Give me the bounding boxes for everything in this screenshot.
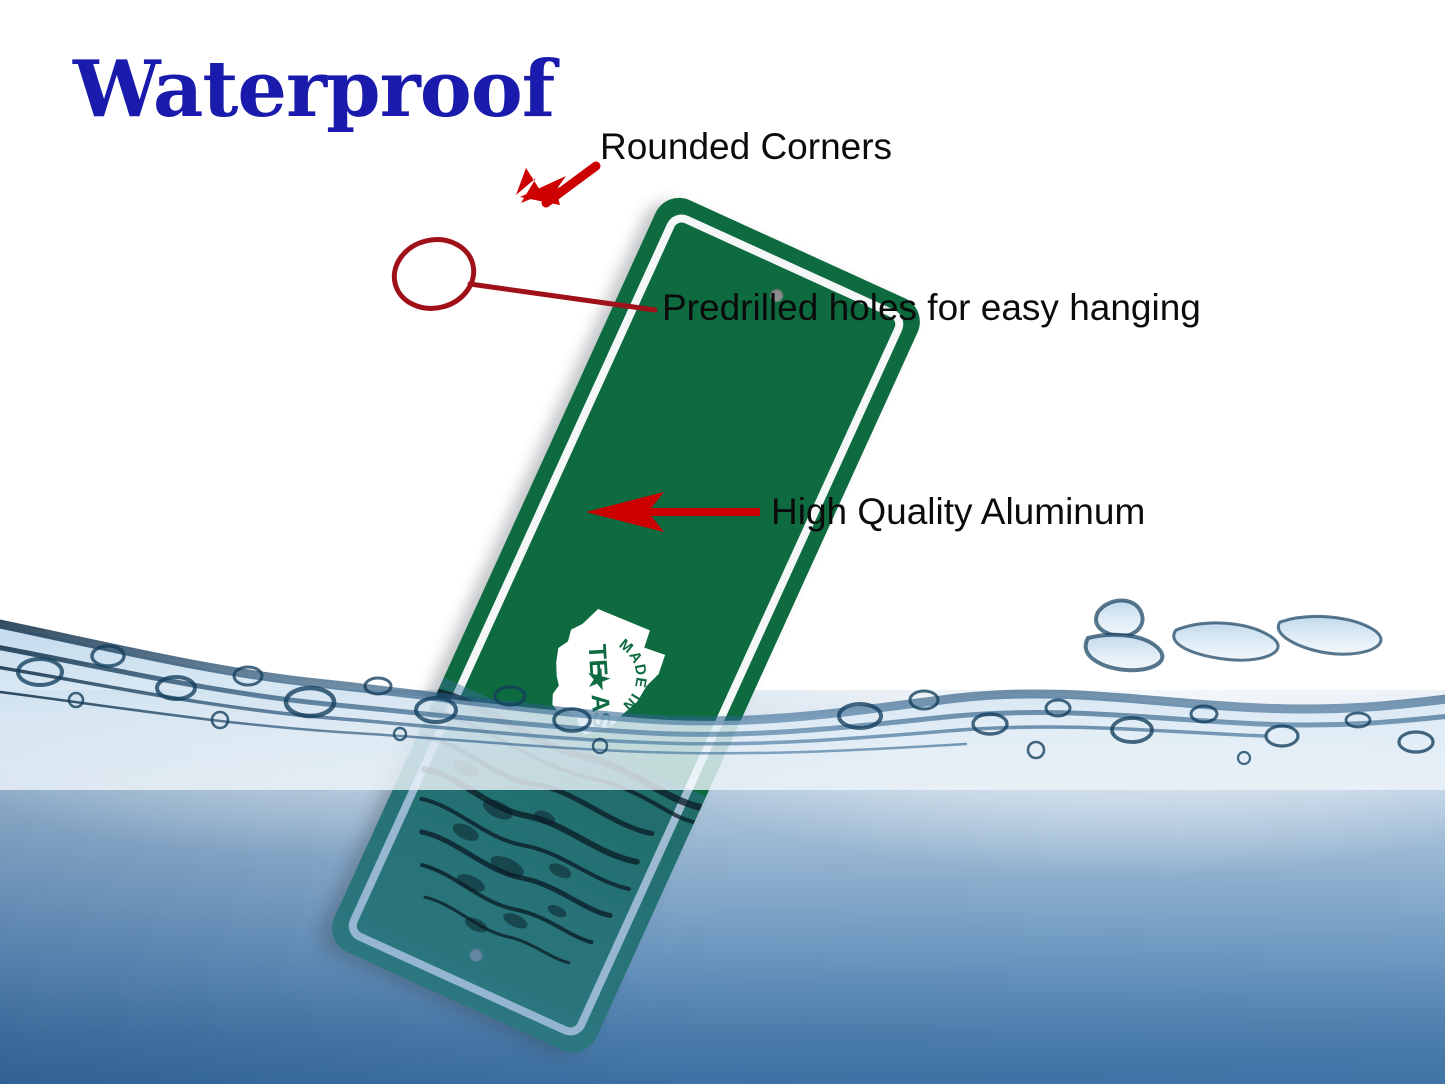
callout-label-high-quality-aluminum: High Quality Aluminum — [771, 491, 1145, 533]
rounded-corners-arrow — [516, 166, 598, 207]
product-infographic: MADE IN TE ★ AS — [0, 0, 1445, 1084]
callout-label-predrilled-holes: Predrilled holes for easy hanging — [662, 287, 1201, 329]
badge-as-text: AS — [586, 693, 616, 729]
page-title: Waterproof — [73, 44, 554, 135]
callout-label-rounded-corners: Rounded Corners — [600, 126, 892, 168]
badge-star-icon: ★ — [580, 665, 617, 694]
